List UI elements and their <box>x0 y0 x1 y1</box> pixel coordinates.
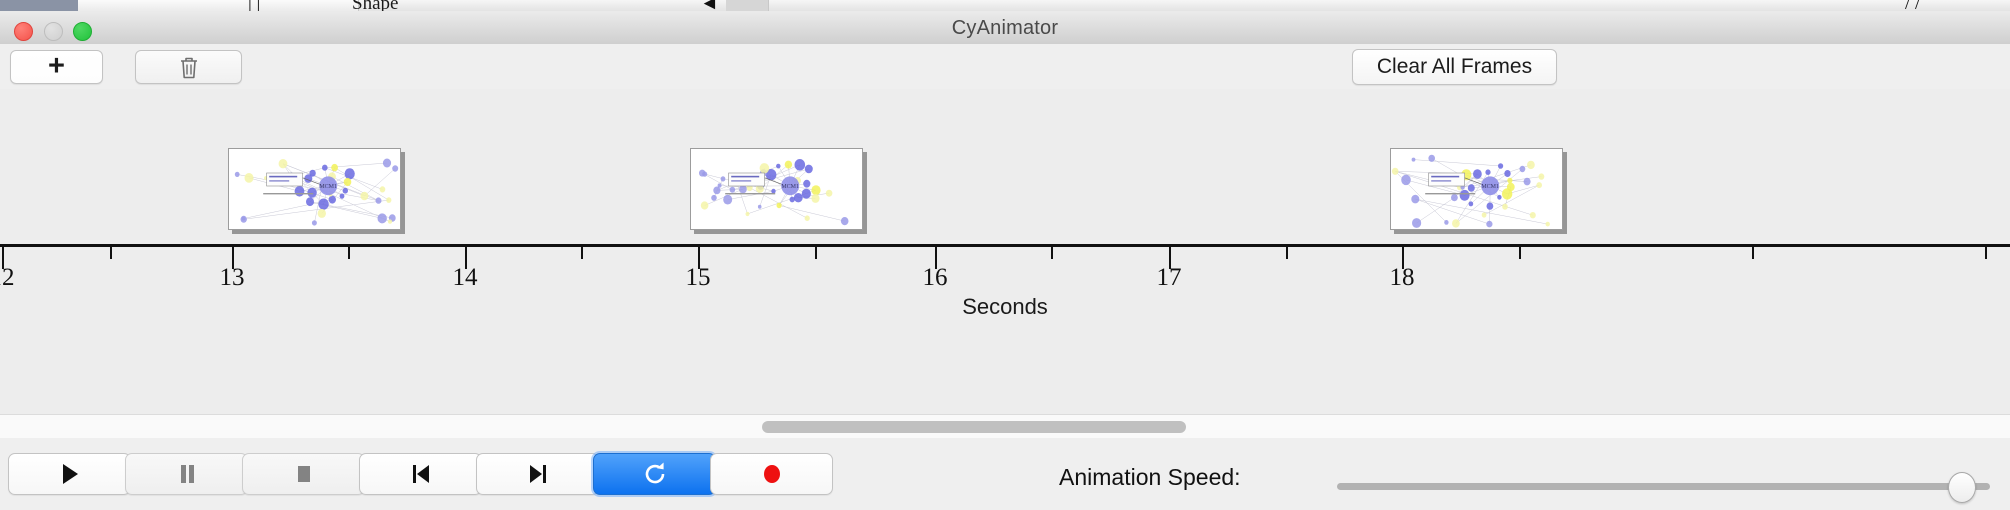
background-window-tab <box>726 0 769 11</box>
background-window-glyph: | | <box>248 0 260 11</box>
trash-icon <box>178 55 200 80</box>
frame-thumbnail-1[interactable]: MCM1 <box>228 148 401 230</box>
frame-thumbnail-2[interactable]: MCM1 <box>690 148 863 230</box>
axis-tick-minor <box>815 247 817 259</box>
background-window-selected-tab <box>0 0 78 11</box>
playback-control-bar: Animation Speed: <box>0 438 2010 510</box>
axis-tick-minor <box>1051 247 1053 259</box>
svg-text:MCM1: MCM1 <box>319 184 337 190</box>
axis-tick-label: 14 <box>453 264 478 292</box>
title-bar: CyAnimator <box>0 11 2010 45</box>
axis-tick-label: 16 <box>923 264 948 292</box>
animation-speed-slider[interactable] <box>1337 483 1990 490</box>
skip-back-icon <box>409 462 433 486</box>
loop-icon <box>642 461 668 487</box>
toolbar: + Clear All Frames <box>0 44 2010 90</box>
skip-forward-icon <box>526 462 550 486</box>
frame-thumbnail-3[interactable]: MCM1 <box>1390 148 1563 230</box>
delete-frame-button[interactable] <box>135 50 242 84</box>
svg-text:MCM1: MCM1 <box>781 184 799 190</box>
play-button[interactable] <box>8 453 131 495</box>
skip-to-start-button[interactable] <box>359 453 482 495</box>
clear-all-frames-label: Clear All Frames <box>1377 55 1532 79</box>
background-window-caret: ◄ <box>700 0 719 11</box>
axis-tick-minor <box>110 247 112 259</box>
axis-tick-minor <box>1519 247 1521 259</box>
background-window-tab <box>78 0 189 11</box>
axis-tick-minor <box>581 247 583 259</box>
background-window-tab <box>188 0 241 11</box>
clear-all-frames-button[interactable]: Clear All Frames <box>1352 49 1557 85</box>
axis-tick-minor <box>348 247 350 259</box>
timeline-axis <box>0 244 2010 247</box>
background-window-sliver: | | Shape ◄ / / <box>0 0 2010 11</box>
axis-tick-minor <box>1985 247 1987 259</box>
cyanimator-window: | | Shape ◄ / / CyAnimator + Clear All F… <box>0 0 2010 510</box>
background-window-glyph: / / <box>1905 0 1920 11</box>
animation-speed-label: Animation Speed: <box>1059 464 1241 491</box>
stop-button <box>242 453 365 495</box>
animation-speed-slider-thumb[interactable] <box>1948 472 1976 503</box>
add-frame-button[interactable]: + <box>10 50 103 84</box>
record-button[interactable] <box>710 453 833 495</box>
svg-text:MCM1: MCM1 <box>1481 184 1499 190</box>
loop-button[interactable] <box>593 453 716 495</box>
axis-tick-label: 17 <box>1157 264 1182 292</box>
axis-tick-minor <box>1752 247 1754 259</box>
play-icon <box>59 462 81 486</box>
stop-icon <box>293 462 315 486</box>
axis-tick-label: 13 <box>220 264 245 292</box>
pause-icon <box>176 462 198 486</box>
skip-to-end-button[interactable] <box>476 453 599 495</box>
record-icon <box>759 461 785 487</box>
timeline-scrollbar[interactable] <box>0 414 2010 440</box>
window-title: CyAnimator <box>0 17 2010 40</box>
plus-icon: + <box>48 52 65 81</box>
axis-tick-label: 12 <box>0 264 15 292</box>
axis-tick-minor <box>1286 247 1288 259</box>
axis-tick-label: 18 <box>1390 264 1415 292</box>
timeline-panel[interactable]: Seconds 12131415161718 MCM1 MCM1 MCM1 <box>0 89 2010 414</box>
scrollbar-thumb[interactable] <box>762 421 1186 433</box>
background-window-title: Shape <box>352 0 398 11</box>
background-window-tab <box>302 0 359 11</box>
pause-button <box>125 453 248 495</box>
axis-title: Seconds <box>0 294 2010 320</box>
axis-tick-label: 15 <box>686 264 711 292</box>
